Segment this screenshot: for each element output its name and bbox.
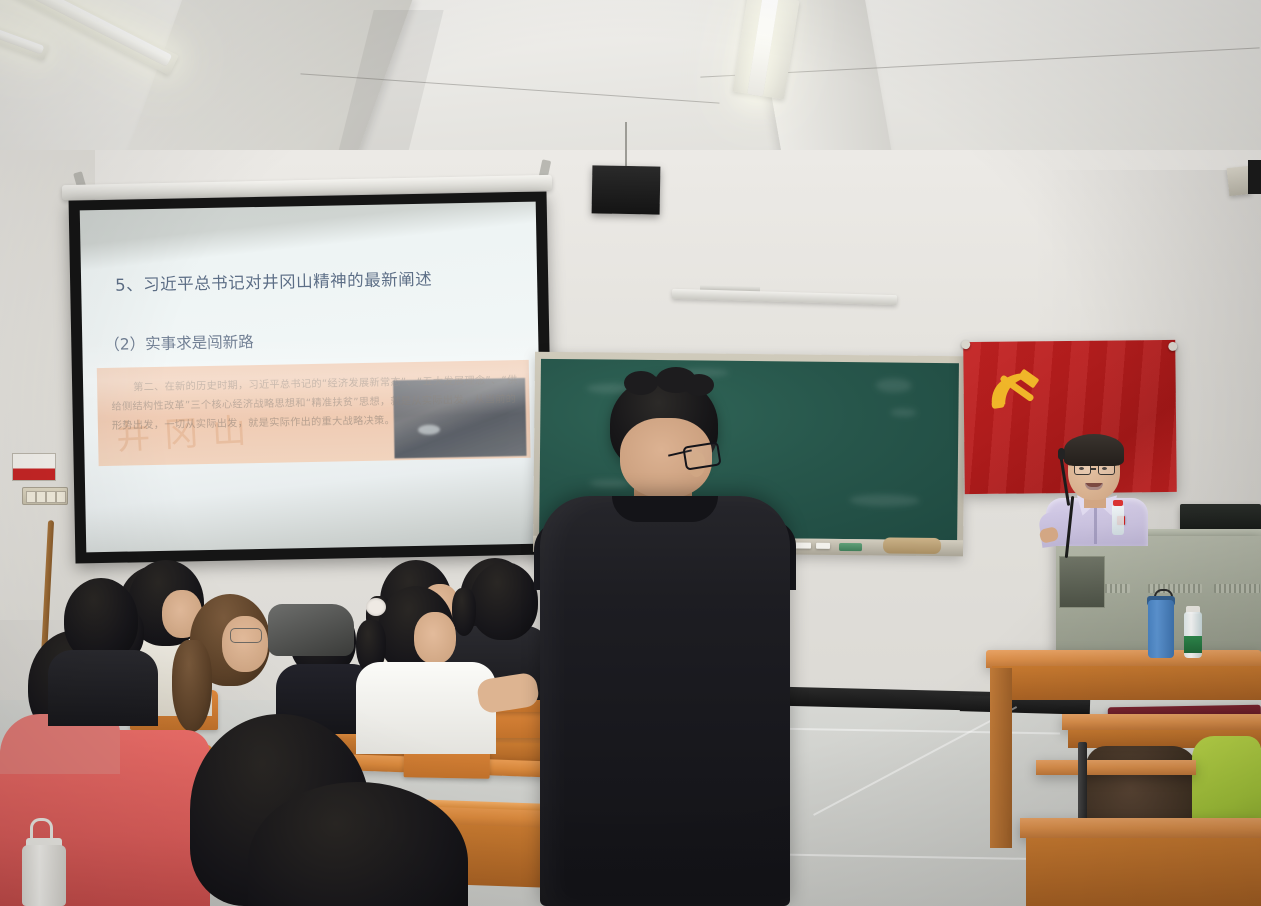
teacher-desk-leg xyxy=(990,668,1012,848)
slide-surface: 5、习近平总书记对井冈山精神的最新阐述 （2）实事求是闯新路 井冈山 第二、在新… xyxy=(80,202,542,553)
podium-control-panel[interactable] xyxy=(1059,556,1105,608)
student-ponytail-back-6 xyxy=(452,588,476,636)
speaker-bottle-cap xyxy=(1113,500,1123,506)
speaker-cable xyxy=(625,122,627,168)
blue-thermos xyxy=(1148,600,1174,658)
speaker-water-bottle xyxy=(1112,505,1124,535)
bottle-label xyxy=(1184,636,1202,653)
student-face-mid-1 xyxy=(414,612,456,664)
student-desk-right-front-apron xyxy=(1026,838,1261,906)
teacher-desk-apron xyxy=(992,666,1261,700)
student-head-back-6 xyxy=(470,562,538,640)
standing-student-shirt xyxy=(540,496,790,906)
slide-title: 5、习近平总书记对井冈山精神的最新阐述 xyxy=(115,266,432,296)
hair-scrunchie xyxy=(366,598,386,616)
student-desk-right-front xyxy=(1020,818,1261,838)
speaker-hair xyxy=(1064,434,1124,466)
student-glasses-mid-2 xyxy=(230,628,262,643)
student-desk-right-lower xyxy=(1036,760,1196,775)
projector-screen[interactable]: 5、习近平总书记对井冈山精神的最新阐述 （2）实事求是闯新路 井冈山 第二、在新… xyxy=(69,191,554,563)
standing-student-collar xyxy=(612,496,718,522)
slide-subtitle: （2）实事求是闯新路 xyxy=(104,330,254,355)
slide-body-text: 第二、在新的历史时期，习近平总书记的“经济发展新常态”、“五大发展理念”、“供给… xyxy=(111,371,520,436)
hammer-and-sickle-icon xyxy=(985,363,1048,422)
microphone-icon xyxy=(1058,448,1065,460)
cloth-rag xyxy=(883,537,941,554)
student-desk-right-top xyxy=(1062,714,1261,730)
chalk-icon xyxy=(816,543,830,549)
student-face-mid-2 xyxy=(222,616,268,672)
slide-text-block: 井冈山 第二、在新的历史时期，习近平总书记的“经济发展新常态”、“五大发展理念”… xyxy=(97,360,531,466)
student-torso-mid-3 xyxy=(48,650,158,726)
wall-speaker-body xyxy=(1248,160,1261,194)
flag-tack-left xyxy=(961,340,970,349)
wall-notice-sign xyxy=(12,453,56,481)
jacket-on-chair xyxy=(268,604,354,656)
chalk-icon xyxy=(795,542,811,548)
podium-monitor xyxy=(1180,504,1261,532)
ceiling-speaker-icon xyxy=(592,165,661,214)
speaker-mouth xyxy=(1085,483,1103,490)
student-hair-strand-mid-2 xyxy=(172,640,212,732)
flag-tack-right xyxy=(1168,342,1177,351)
student-torso-mid-1 xyxy=(356,662,496,754)
classroom-scene: 5、习近平总书记对井冈山精神的最新阐述 （2）实事求是闯新路 井冈山 第二、在新… xyxy=(0,0,1261,906)
eraser-icon xyxy=(839,543,862,551)
white-water-bottle xyxy=(22,845,66,906)
light-switch-panel[interactable] xyxy=(22,487,68,505)
